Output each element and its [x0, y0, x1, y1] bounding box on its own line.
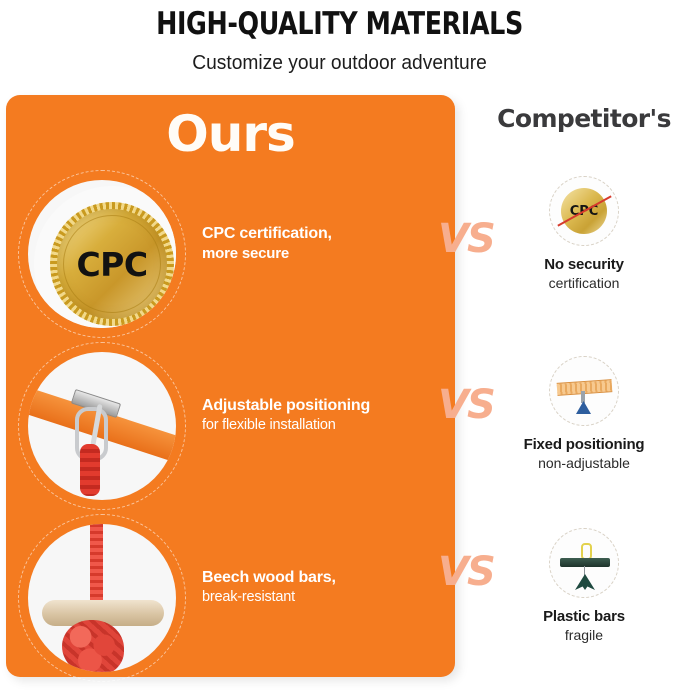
competitor-line2: certification: [489, 275, 679, 291]
disc-background: CPC: [28, 180, 176, 328]
red-rope-shape: [80, 444, 100, 496]
medal-body: CPC: [57, 209, 167, 319]
ours-panel: Ours CPC CPC certification, more secure: [6, 95, 455, 677]
ours-line2: more secure: [202, 244, 448, 263]
ours-line1: CPC certification,: [202, 224, 448, 244]
page-header: HIGH-QUALITY MATERIALS Customize your ou…: [0, 0, 679, 75]
vs-badge-row1: VS: [438, 219, 494, 259]
competitor-line1: No security: [489, 256, 679, 273]
blue-clip-shape: [576, 401, 591, 414]
ours-line2: for flexible installation: [202, 416, 448, 435]
competitor-column-title: Competitor's: [489, 104, 679, 133]
page-title: HIGH-QUALITY MATERIALS: [61, 0, 618, 42]
competitor-line2: fragile: [489, 627, 679, 643]
plastic-bar-hook-icon: [549, 528, 619, 598]
ours-column-title: Ours: [6, 109, 455, 159]
vs-badge-row2: VS: [438, 385, 494, 425]
page-subtitle: Customize your outdoor adventure: [14, 42, 666, 75]
competitor-line1: Fixed positioning: [489, 436, 679, 453]
ours-row-cpc: CPC CPC certification, more secure: [6, 168, 455, 340]
crossed-out-cpc-medal-icon: CPC: [549, 176, 619, 246]
ours-row-adjustable: Adjustable positioning for flexible inst…: [6, 340, 455, 512]
competitor-row-no-security: CPC No security certification: [489, 176, 679, 291]
medal-label: CPC: [76, 245, 147, 284]
ours-text-adjustable: Adjustable positioning for flexible inst…: [202, 396, 448, 435]
hook-stem-shape: [581, 391, 585, 403]
ours-text-wood-bars: Beech wood bars, break-resistant: [202, 568, 448, 607]
ours-line2: break-resistant: [202, 588, 448, 607]
vs-badge-row3: VS: [438, 552, 494, 592]
competitor-line2: non-adjustable: [489, 455, 679, 471]
cpc-gold-medal-icon: CPC: [18, 170, 186, 338]
disc-background: [28, 352, 176, 500]
ours-line1: Adjustable positioning: [202, 396, 448, 416]
strap-carabiner-rope-icon: [18, 342, 186, 510]
ours-line1: Beech wood bars,: [202, 568, 448, 588]
competitor-row-plastic-bars: Plastic bars fragile: [489, 528, 679, 643]
ours-text-cpc: CPC certification, more secure: [202, 224, 448, 264]
dark-hook-shape: [575, 574, 595, 590]
rope-knot-shape: [62, 620, 124, 672]
competitor-row-fixed-positioning: Fixed positioning non-adjustable: [489, 356, 679, 471]
competitor-line1: Plastic bars: [489, 608, 679, 625]
ours-row-wood-bars: Beech wood bars, break-resistant: [6, 512, 455, 684]
disc-background: [28, 524, 176, 672]
wood-bar-rope-knot-icon: [18, 514, 186, 682]
plastic-bar-shape: [560, 558, 610, 567]
fixed-strap-hook-icon: [549, 356, 619, 426]
vertical-rope-shape: [90, 524, 103, 612]
